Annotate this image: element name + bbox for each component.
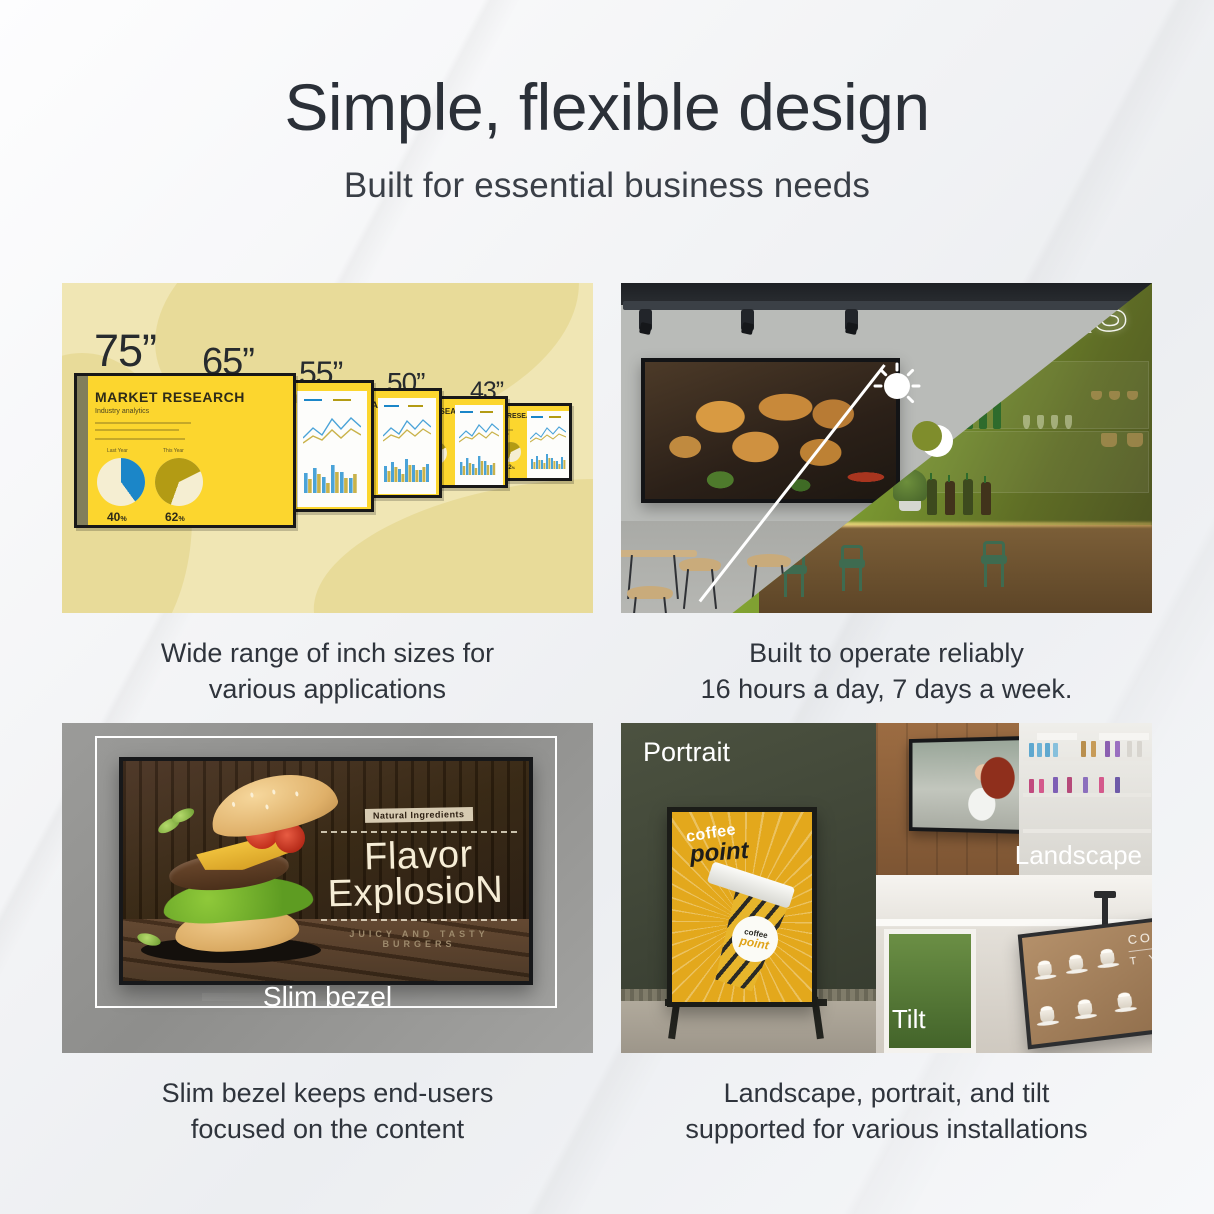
sesame-seed — [272, 789, 276, 795]
line-chart-icon — [303, 411, 361, 447]
caption-line-2: 16 hours a day, 7 days a week. — [621, 672, 1152, 708]
pct-right-unit: % — [512, 466, 515, 470]
legend-swatch — [549, 416, 561, 418]
product — [1137, 741, 1142, 757]
feature-cell-slimbezel: Natural Ingredients Flavor ExplosioN JUI… — [62, 723, 593, 1163]
chart-label-right: This Year — [163, 448, 184, 454]
chart-label-left: Last Year — [107, 448, 128, 454]
tilt-display: COFFEE T Y P E — [1018, 911, 1152, 1049]
feature-cell-sizes: 43” MARKET RESEARCH Industry analytics 4… — [62, 283, 593, 723]
food-image — [645, 362, 896, 499]
mug — [1109, 391, 1120, 400]
tilt-label: Tilt — [892, 1004, 926, 1035]
coffee-cup-icon — [1038, 1007, 1056, 1026]
ad-tagline: JUICY AND TASTY BURGERS — [321, 929, 517, 949]
stool-seat — [747, 554, 791, 567]
pct-right-sub: 2021 — [171, 524, 181, 528]
legend-swatch — [460, 411, 473, 413]
light-track — [623, 301, 1152, 310]
caption-line-2: focused on the content — [62, 1112, 593, 1148]
pct-left: 40% — [107, 510, 127, 524]
legend-swatch — [531, 416, 543, 418]
caption-line-2: various applications — [62, 672, 593, 708]
stool-leg — [859, 567, 862, 591]
landscape-label: Landscape — [1015, 840, 1142, 871]
feature-cell-orientations: coffee point coffee point Portrait — [621, 723, 1152, 1163]
bottle — [927, 479, 937, 515]
panel-daynight-image: DRINKS — [621, 283, 1152, 613]
saucer — [1066, 968, 1088, 975]
product — [1067, 777, 1072, 793]
screen-white-pane — [297, 391, 367, 507]
product — [1083, 777, 1088, 793]
pie-chart-right — [155, 458, 203, 506]
wine-glass — [1065, 415, 1072, 429]
legend-swatch — [408, 405, 423, 407]
product — [1039, 779, 1044, 793]
spotlight-icon — [639, 309, 652, 331]
line-chart-icon — [383, 414, 431, 444]
tv-side-bar — [77, 376, 88, 525]
screen-subheading: Industry analytics — [95, 408, 149, 415]
mug — [1091, 391, 1102, 400]
portrait-scene: coffee point coffee point Portrait — [621, 723, 876, 1053]
burger-display: Natural Ingredients Flavor ExplosioN JUI… — [119, 757, 533, 985]
legend-swatch — [304, 399, 322, 401]
pct-right: 62% — [165, 510, 185, 524]
product — [1127, 741, 1132, 757]
pie-chart-left — [97, 458, 145, 506]
bottle — [981, 482, 991, 515]
stool-seat — [679, 558, 721, 571]
page-title: Simple, flexible design — [0, 74, 1214, 140]
wine-glass — [1023, 415, 1030, 429]
shelf — [1023, 829, 1150, 833]
natural-ingredients-badge: Natural Ingredients — [365, 807, 473, 823]
panel-slimbezel-image: Natural Ingredients Flavor ExplosioN JUI… — [62, 723, 593, 1053]
product — [1115, 777, 1120, 793]
product — [1081, 741, 1086, 757]
dashed-divider — [321, 831, 517, 833]
product — [1053, 777, 1058, 793]
portrait-display: coffee point coffee point — [667, 807, 817, 1007]
product — [1037, 743, 1042, 757]
feature-row-bottom: Natural Ingredients Flavor ExplosioN JUI… — [62, 723, 1152, 1163]
coffee-cup-icon — [1116, 994, 1134, 1013]
bar-chart-icon — [383, 456, 431, 482]
sign-panel — [1037, 733, 1077, 740]
slim-bezel-label: Slim bezel — [62, 981, 593, 1013]
sesame-seed — [250, 792, 254, 798]
tv-size-stack: 43” MARKET RESEARCH Industry analytics 4… — [62, 283, 593, 613]
headline-line-2: ExplosioN — [313, 872, 518, 913]
legend-swatch — [480, 411, 493, 413]
portrait-label: Portrait — [643, 737, 730, 768]
panel-orientations-image: coffee point coffee point Portrait — [621, 723, 1152, 1053]
product — [1053, 743, 1058, 757]
shelf — [1023, 793, 1150, 797]
ad-headline: Flavor ExplosioN — [320, 837, 518, 914]
green-stool — [839, 545, 865, 591]
caption-line-1: Built to operate reliably — [621, 636, 1152, 672]
wall-display-food — [641, 358, 900, 503]
sign-panel — [1099, 733, 1149, 740]
bottle — [945, 481, 955, 515]
coffee-cup-icon — [1099, 950, 1117, 968]
screen-heading: MARKET RESEARCH — [95, 389, 245, 405]
saucer — [1075, 1013, 1098, 1020]
mug — [1127, 391, 1138, 400]
page-subtitle: Built for essential business needs — [0, 166, 1214, 206]
pct-left-sub: 2020 — [113, 524, 123, 528]
sesame-seed — [232, 802, 236, 808]
text-line — [95, 429, 179, 431]
wine-glass — [1051, 415, 1058, 429]
feature-grid: 43” MARKET RESEARCH Industry analytics 4… — [62, 283, 1152, 1164]
product — [1105, 741, 1110, 757]
spotlight-icon — [741, 309, 754, 331]
burger-ad-text: Natural Ingredients Flavor ExplosioN JUI… — [321, 805, 517, 948]
ceiling-mount — [1102, 897, 1108, 925]
bar-chart-icon — [530, 451, 566, 469]
caption-line-2: supported for various installations — [621, 1112, 1152, 1148]
pct-left-value: 40 — [107, 510, 120, 524]
stool-leg — [801, 573, 804, 597]
line-chart-icon — [459, 419, 499, 445]
coffee-cup-icon — [1076, 1001, 1094, 1020]
stool-leg — [1001, 563, 1004, 587]
stool-leg — [842, 567, 845, 591]
caption-orientations: Landscape, portrait, and tilt supported … — [621, 1053, 1152, 1163]
caption-line-1: Slim bezel keeps end-users — [62, 1076, 593, 1112]
caption-line-1: Landscape, portrait, and tilt — [621, 1076, 1152, 1112]
bar-chart-icon — [303, 461, 361, 493]
page-header: Simple, flexible design Built for essent… — [0, 0, 1214, 206]
tilt-scene: COFFEE T Y P E — [876, 875, 1152, 1053]
pct-right-unit: % — [178, 514, 184, 523]
coffee-point-brand: coffee point — [686, 824, 749, 867]
stool-leg — [984, 563, 987, 587]
bottle — [963, 479, 973, 515]
coffee-cup-icon — [1036, 962, 1053, 981]
product — [1091, 741, 1096, 757]
spotlight-icon — [845, 309, 858, 331]
stool-leg — [784, 573, 787, 597]
screen-white-pane — [455, 405, 503, 485]
panel-sizes-image: 43” MARKET RESEARCH Industry analytics 4… — [62, 283, 593, 613]
line-chart-icon — [530, 423, 566, 445]
pct-left-unit: % — [120, 514, 126, 523]
saucer — [1037, 1020, 1059, 1027]
product — [1045, 743, 1050, 757]
green-stool — [981, 541, 1007, 587]
legend-swatch — [333, 399, 351, 401]
saucer — [1034, 974, 1056, 981]
pct-right-value: 62 — [165, 510, 178, 524]
caption-sizes: Wide range of inch sizes for various app… — [62, 613, 593, 723]
screen-white-pane — [527, 411, 569, 479]
dashed-divider — [321, 919, 517, 921]
tv-screen-75: MARKET RESEARCH Industry analytics Last … — [74, 373, 296, 528]
coffee-type-heading: COFFEE T Y P E — [1126, 924, 1152, 967]
product — [1029, 743, 1034, 757]
caption-line-1: Wide range of inch sizes for — [62, 636, 593, 672]
bar-chart-icon — [459, 453, 499, 475]
mug — [1127, 433, 1143, 447]
sesame-seed — [295, 791, 299, 797]
infographic-page: Simple, flexible design Built for essent… — [0, 0, 1214, 1214]
feature-row-top: 43” MARKET RESEARCH Industry analytics 4… — [62, 283, 1152, 723]
product — [1115, 741, 1120, 757]
landscape-scene: Landscape — [876, 723, 1152, 875]
mug — [1101, 433, 1117, 447]
sesame-seed — [265, 804, 269, 810]
coffee-title-line-1: COFFEE — [1126, 924, 1152, 947]
feature-cell-daynight: DRINKS — [621, 283, 1152, 723]
product — [1029, 779, 1034, 793]
text-line — [95, 422, 191, 424]
text-line — [95, 438, 185, 440]
coffee-cup-icon — [1067, 956, 1085, 974]
caption-slimbezel: Slim bezel keeps end-users focused on th… — [62, 1053, 593, 1163]
shelf — [1023, 757, 1150, 761]
product — [1099, 777, 1104, 793]
saucer — [1097, 962, 1119, 969]
screen-white-pane — [378, 398, 436, 494]
size-label-75: 75” — [94, 325, 156, 377]
wine-glass — [1037, 415, 1044, 429]
caption-daynight: Built to operate reliably 16 hours a day… — [621, 613, 1152, 723]
legend-swatch — [384, 405, 399, 407]
saucer — [1114, 1006, 1137, 1013]
